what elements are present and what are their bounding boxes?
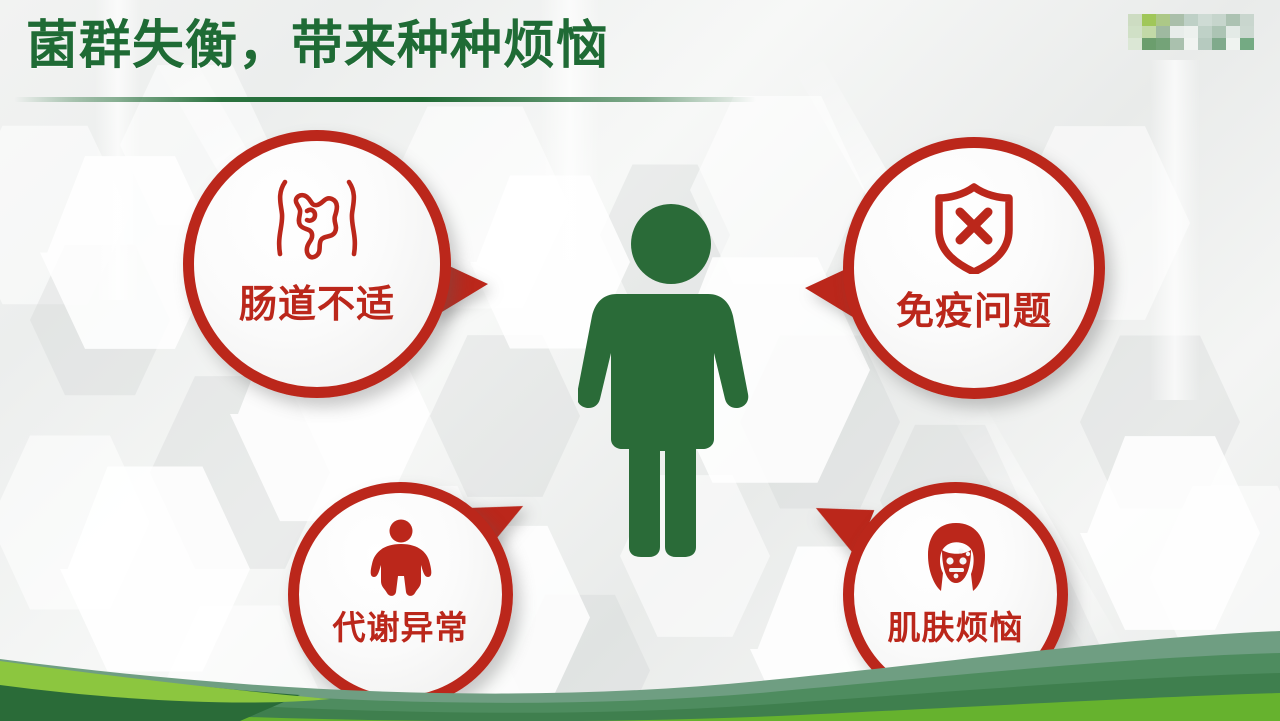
bubble-gut[interactable]: 肠道不适 — [183, 130, 451, 398]
intestine-icon — [267, 175, 367, 267]
bubble-gut-label: 肠道不适 — [239, 273, 395, 328]
title-underline-rule — [14, 97, 756, 102]
bubble-immune[interactable]: 免疫问题 — [843, 137, 1105, 399]
bubble-immune-label: 免疫问题 — [896, 280, 1052, 335]
obese-person-icon — [365, 519, 437, 597]
slide-canvas: 菌群失衡，带来种种烦恼 肠道不适 — [0, 0, 1280, 721]
pixelated-logo-mosaic — [1128, 14, 1254, 50]
shield-x-icon — [931, 182, 1017, 274]
slide-title: 菌群失衡，带来种种烦恼 — [26, 14, 609, 79]
human-body-pictogram — [578, 204, 764, 558]
bottom-wave-decoration — [0, 601, 1280, 721]
acne-face-icon — [917, 519, 995, 597]
